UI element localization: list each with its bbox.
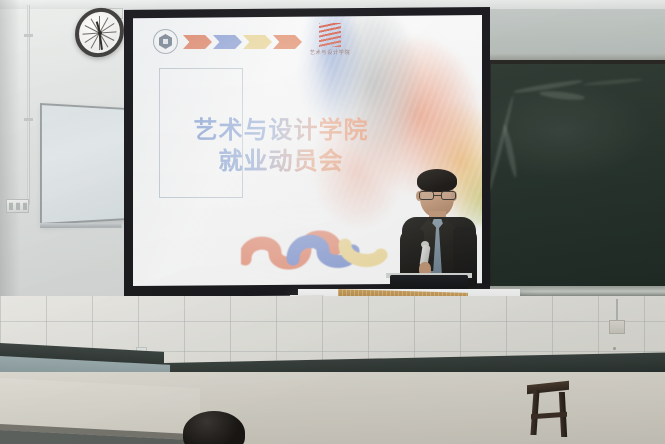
slide-title-line-1: 艺术与设计学院 <box>181 115 381 146</box>
switch-toggle[interactable] <box>23 202 27 210</box>
left-wall-whiteboard <box>40 103 124 225</box>
slide-title-line-2: 就业动员会 <box>181 146 381 177</box>
clock-center-pin <box>98 30 102 34</box>
brandmark-logo-icon <box>319 23 341 47</box>
presenter-hair <box>417 169 457 192</box>
wall-outlet-right <box>609 320 625 334</box>
switch-toggle[interactable] <box>16 202 20 210</box>
whiteboard-marker-tray <box>40 223 122 228</box>
wavy-ribbon-graphic <box>241 225 401 271</box>
chevron-4-icon <box>273 35 302 49</box>
eyeglasses-icon <box>418 191 457 201</box>
slide-title: 艺术与设计学院 就业动员会 <box>181 115 381 177</box>
light-switch-panel[interactable] <box>6 199 29 213</box>
green-chalkboard <box>491 64 665 288</box>
brandmark-label: 艺术与设计学院 <box>300 49 360 56</box>
chevron-arrow-row <box>183 35 302 49</box>
slide-brandmark: 艺术与设计学院 <box>300 23 360 56</box>
outlet-cord <box>616 299 618 321</box>
conduit-clip <box>24 118 33 121</box>
left-wall-shadow <box>0 0 20 300</box>
classroom-photo: 艺术与设计学院 艺术与设计学院 就业动员会 <box>0 0 665 444</box>
chevron-2-icon <box>213 35 242 49</box>
slide-university-seal-icon <box>153 29 178 54</box>
clock-face <box>81 13 118 53</box>
chevron-3-icon <box>243 35 272 49</box>
conduit-clip <box>24 34 33 37</box>
chevron-1-icon <box>183 35 212 49</box>
switch-toggle[interactable] <box>9 202 13 210</box>
